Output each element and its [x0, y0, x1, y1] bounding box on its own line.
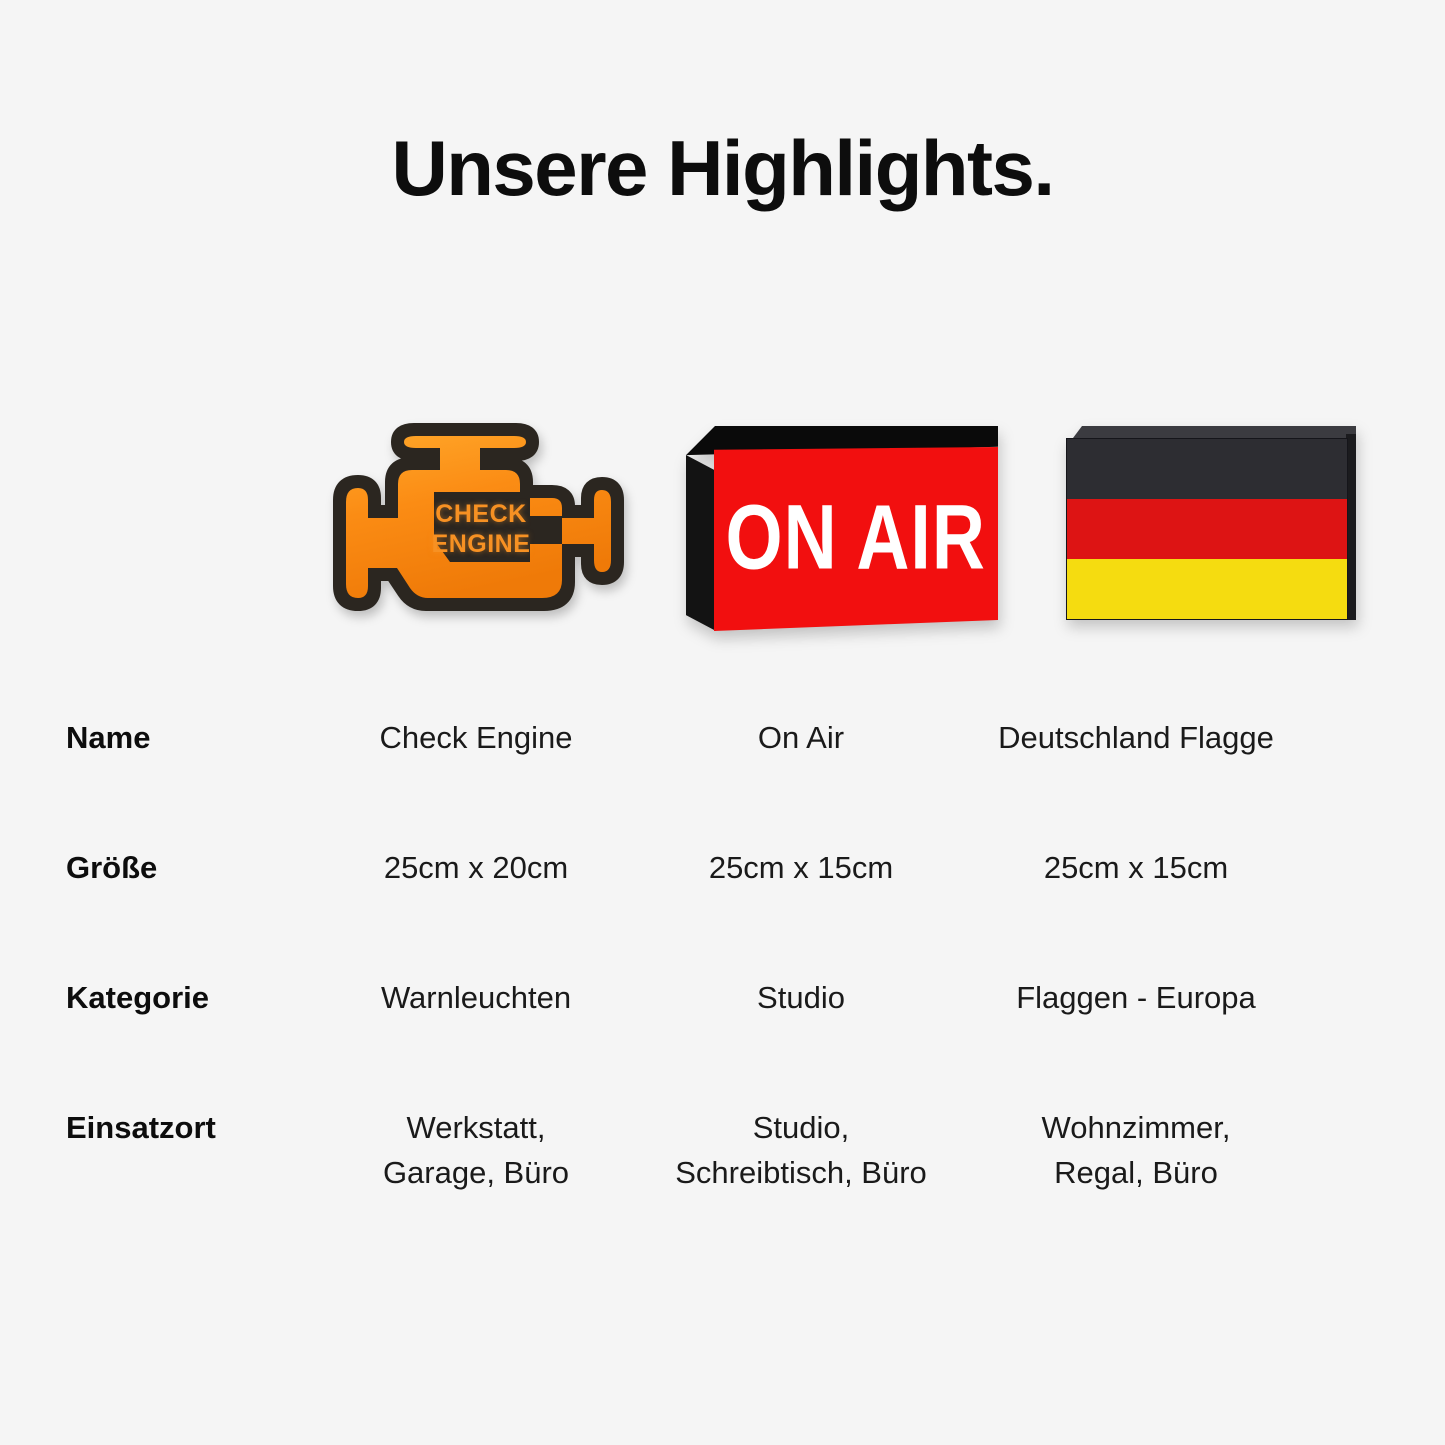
cell-groesse-deutschland-flagge: 25cm x 15cm: [966, 820, 1306, 891]
product-image-deutschland-flagge[interactable]: [1046, 400, 1376, 650]
cell-name-check-engine: Check Engine: [316, 690, 636, 761]
cell-einsatzort-on-air: Studio, Schreibtisch, Büro: [636, 1080, 966, 1196]
table-row: Name Check Engine On Air Deutschland Fla…: [0, 690, 1445, 820]
product-image-row: CHECK ENGINE ON AIR: [0, 400, 1445, 650]
on-air-box-side-face: [686, 455, 716, 631]
cell-kategorie-deutschland-flagge: Flaggen - Europa: [966, 950, 1306, 1021]
check-engine-icon: CHECK ENGINE: [330, 412, 625, 634]
row-label-groesse: Größe: [0, 820, 316, 891]
row-label-kategorie: Kategorie: [0, 950, 316, 1021]
product-image-on-air[interactable]: ON AIR: [676, 400, 1006, 650]
on-air-lightbox-icon: ON AIR: [686, 426, 998, 631]
highlights-page: Unsere Highlights.: [0, 0, 1445, 1445]
cell-groesse-check-engine: 25cm x 20cm: [316, 820, 636, 891]
cell-kategorie-on-air: Studio: [636, 950, 966, 1021]
flag-band-gold: [1067, 559, 1347, 619]
row-label-name: Name: [0, 690, 316, 761]
flag-band-black: [1067, 439, 1347, 499]
on-air-label: ON AIR: [726, 492, 986, 584]
check-engine-shape: [330, 412, 625, 634]
cell-einsatzort-deutschland-flagge: Wohnzimmer, Regal, Büro: [966, 1080, 1306, 1196]
cell-kategorie-check-engine: Warnleuchten: [316, 950, 636, 1021]
table-row: Kategorie Warnleuchten Studio Flaggen - …: [0, 950, 1445, 1080]
row-label-einsatzort: Einsatzort: [0, 1080, 316, 1151]
table-row: Größe 25cm x 20cm 25cm x 15cm 25cm x 15c…: [0, 820, 1445, 950]
cell-name-deutschland-flagge: Deutschland Flagge: [966, 690, 1306, 761]
flag-box-front-face: [1066, 438, 1348, 620]
table-row: Einsatzort Werkstatt, Garage, Büro Studi…: [0, 1080, 1445, 1210]
cell-einsatzort-check-engine: Werkstatt, Garage, Büro: [316, 1080, 636, 1196]
spec-comparison-table: Name Check Engine On Air Deutschland Fla…: [0, 690, 1445, 1210]
on-air-box-front-face: ON AIR: [714, 447, 998, 631]
flag-band-red: [1067, 499, 1347, 559]
product-image-check-engine[interactable]: CHECK ENGINE: [316, 400, 636, 650]
germany-flag-lightbox-icon: [1066, 426, 1356, 622]
page-title: Unsere Highlights.: [0, 128, 1445, 210]
cell-groesse-on-air: 25cm x 15cm: [636, 820, 966, 891]
cell-name-on-air: On Air: [636, 690, 966, 761]
